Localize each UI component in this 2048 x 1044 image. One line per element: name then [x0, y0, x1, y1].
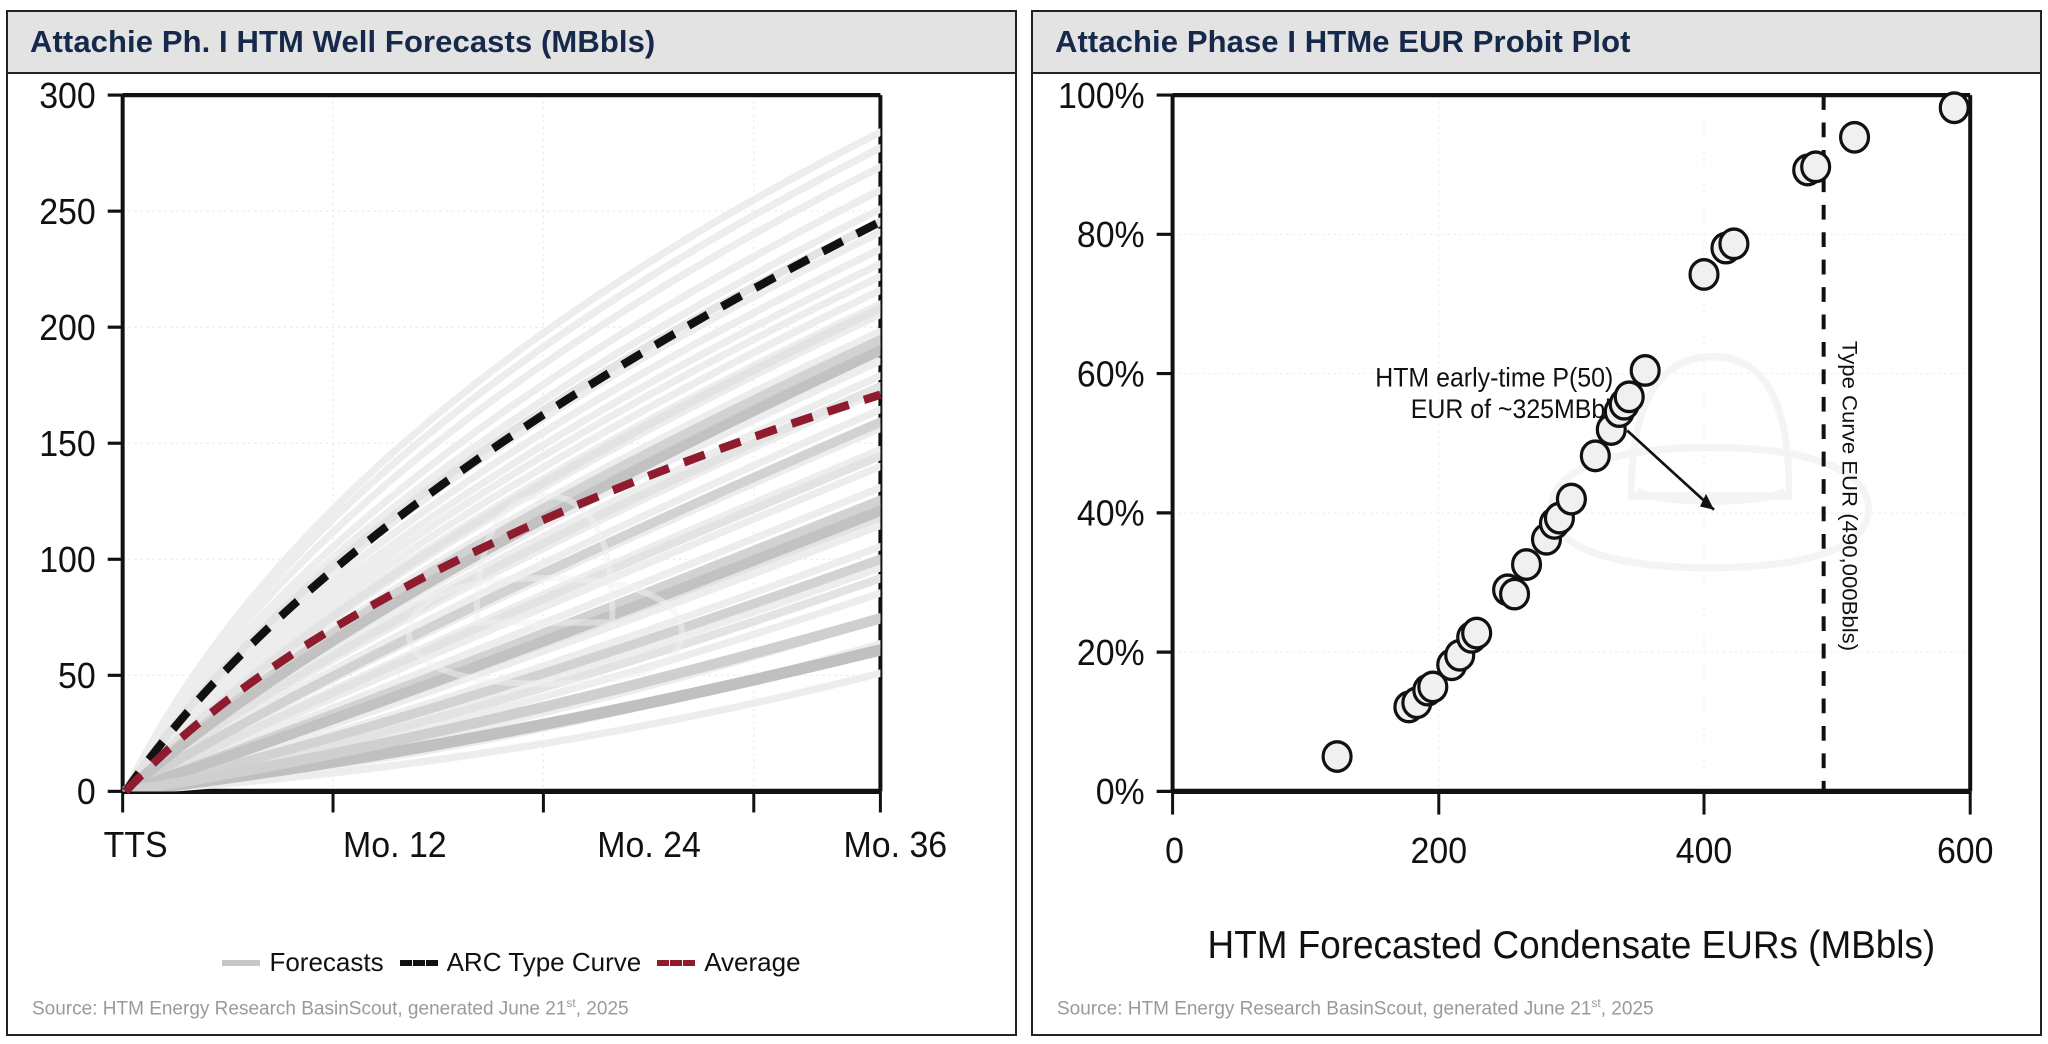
scatter-point — [1841, 123, 1869, 153]
panel-well-forecasts: Attachie Ph. I HTM Well Forecasts (MBbls… — [6, 10, 1017, 1036]
ytick-200: 200 — [39, 308, 96, 348]
ytick-300: 300 — [39, 76, 96, 116]
page-title-right: Attachie Phase I HTMe EUR Probit Plot — [1055, 24, 1631, 60]
ytick-100: 100 — [39, 540, 96, 580]
xtick-200: 200 — [1411, 831, 1468, 871]
ytick-80pct: 80% — [1077, 215, 1145, 255]
scatter-point — [1802, 152, 1830, 182]
source-text-left: Source: HTM Energy Research BasinScout, … — [32, 998, 566, 1019]
panel-header-left: Attachie Ph. I HTM Well Forecasts (MBbls… — [8, 12, 1015, 74]
xtick-tts: TTS — [104, 825, 168, 865]
source-sup-right: st — [1591, 996, 1600, 1010]
xtick-400: 400 — [1676, 831, 1733, 871]
scatter-point — [1940, 93, 1968, 123]
scatter-point — [1615, 382, 1643, 412]
annotation-line-1: HTM early-time P(50) — [1375, 364, 1613, 393]
ytick-250: 250 — [39, 192, 96, 232]
scatter-point — [1513, 550, 1541, 580]
scatter-point — [1581, 441, 1609, 471]
xtick-0: 0 — [1165, 831, 1184, 871]
source-note-left: Source: HTM Energy Research BasinScout, … — [32, 996, 629, 1020]
probit-scatter-chart: 100% 80% 60% 40% 20% 0% 0 200 4 — [1033, 74, 2040, 1034]
source-sup-left: st — [566, 996, 575, 1010]
well-forecast-chart: 300 250 200 150 100 50 0 TTS — [8, 74, 1015, 1034]
source-tail-right: , 2025 — [1601, 998, 1654, 1019]
source-tail-left: , 2025 — [576, 998, 629, 1019]
ytick-0pct: 0% — [1096, 772, 1145, 812]
xtick-mo24: Mo. 24 — [597, 825, 701, 865]
dashboard: Attachie Ph. I HTM Well Forecasts (MBbls… — [0, 0, 2048, 1044]
x-axis-ticks — [123, 791, 881, 812]
y-axis-ticks — [108, 95, 123, 791]
y-axis-ticks-right — [1157, 95, 1173, 791]
ytick-40pct: 40% — [1077, 494, 1145, 534]
ytick-60pct: 60% — [1077, 354, 1145, 394]
chart-area-forecasts: 300 250 200 150 100 50 0 TTS — [8, 74, 1015, 1034]
scatter-point — [1720, 229, 1748, 259]
chart-area-probit: 100% 80% 60% 40% 20% 0% 0 200 4 — [1033, 74, 2040, 1034]
ytick-150: 150 — [39, 424, 96, 464]
ytick-20pct: 20% — [1077, 633, 1145, 673]
scatter-point — [1631, 356, 1659, 386]
ytick-100pct: 100% — [1058, 76, 1145, 116]
scatter-point — [1557, 484, 1585, 514]
y-axis-labels-right: 100% 80% 60% 40% 20% 0% — [1058, 76, 1145, 812]
xtick-mo12: Mo. 12 — [343, 825, 447, 865]
ytick-50: 50 — [58, 656, 96, 696]
source-note-right: Source: HTM Energy Research BasinScout, … — [1057, 996, 1654, 1020]
panel-probit-plot: Attachie Phase I HTMe EUR Probit Plot — [1031, 10, 2042, 1036]
forecast-curves — [126, 132, 881, 791]
scatter-point — [1323, 742, 1351, 772]
panel-header-right: Attachie Phase I HTMe EUR Probit Plot — [1033, 12, 2040, 74]
x-axis-labels: TTS Mo. 12 Mo. 24 Mo. 36 — [104, 825, 948, 865]
ytick-0: 0 — [77, 772, 96, 812]
x-axis-labels-right: 0 200 400 600 — [1165, 831, 1993, 871]
annotation-line-2: EUR of ~325MBbls — [1411, 395, 1624, 424]
x-axis-title: HTM Forecasted Condensate EURs (MBbls) — [1208, 924, 1936, 967]
scatter-point — [1501, 579, 1529, 609]
xtick-600: 600 — [1937, 831, 1994, 871]
type-curve-eur-label: Type Curve EUR (490,000Bbls) — [1838, 341, 1862, 651]
page-title: Attachie Ph. I HTM Well Forecasts (MBbls… — [30, 24, 655, 60]
x-axis-ticks-right — [1173, 791, 1971, 814]
source-text-right: Source: HTM Energy Research BasinScout, … — [1057, 998, 1591, 1019]
y-axis-labels: 300 250 200 150 100 50 0 — [39, 76, 96, 812]
scatter-point — [1463, 618, 1491, 648]
scatter-point — [1690, 260, 1718, 290]
scatter-points — [1323, 93, 1968, 771]
xtick-mo36: Mo. 36 — [844, 825, 948, 865]
